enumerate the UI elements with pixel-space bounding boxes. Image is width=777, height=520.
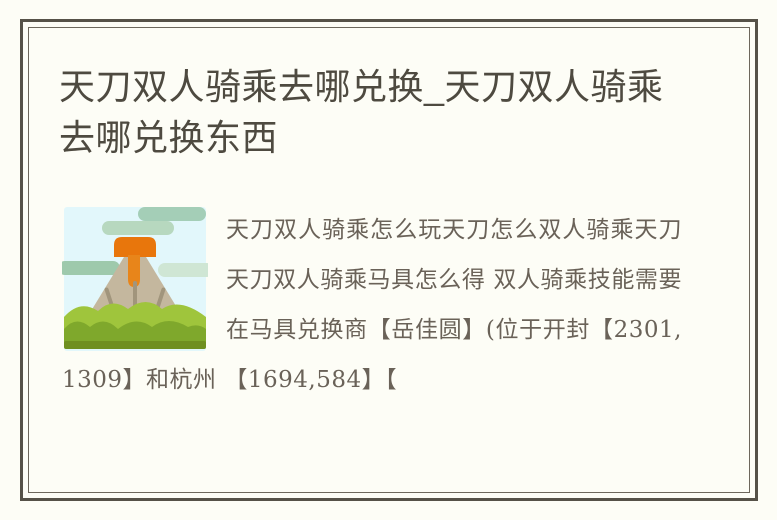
page-root: 天刀双人骑乘去哪兑换_天刀双人骑乘去哪兑换东西 — [0, 0, 777, 520]
page-title: 天刀双人骑乘去哪兑换_天刀双人骑乘去哪兑换东西 — [59, 61, 689, 163]
article-body-block: 天刀双人骑乘怎么玩天刀怎么双人骑乘天刀天刀双人骑乘马具怎么得 双人骑乘技能需要在… — [62, 205, 682, 465]
volcano-illustration-thumbnail[interactable] — [62, 205, 208, 353]
article-content: 天刀双人骑乘去哪兑换_天刀双人骑乘去哪兑换东西 — [29, 28, 749, 492]
